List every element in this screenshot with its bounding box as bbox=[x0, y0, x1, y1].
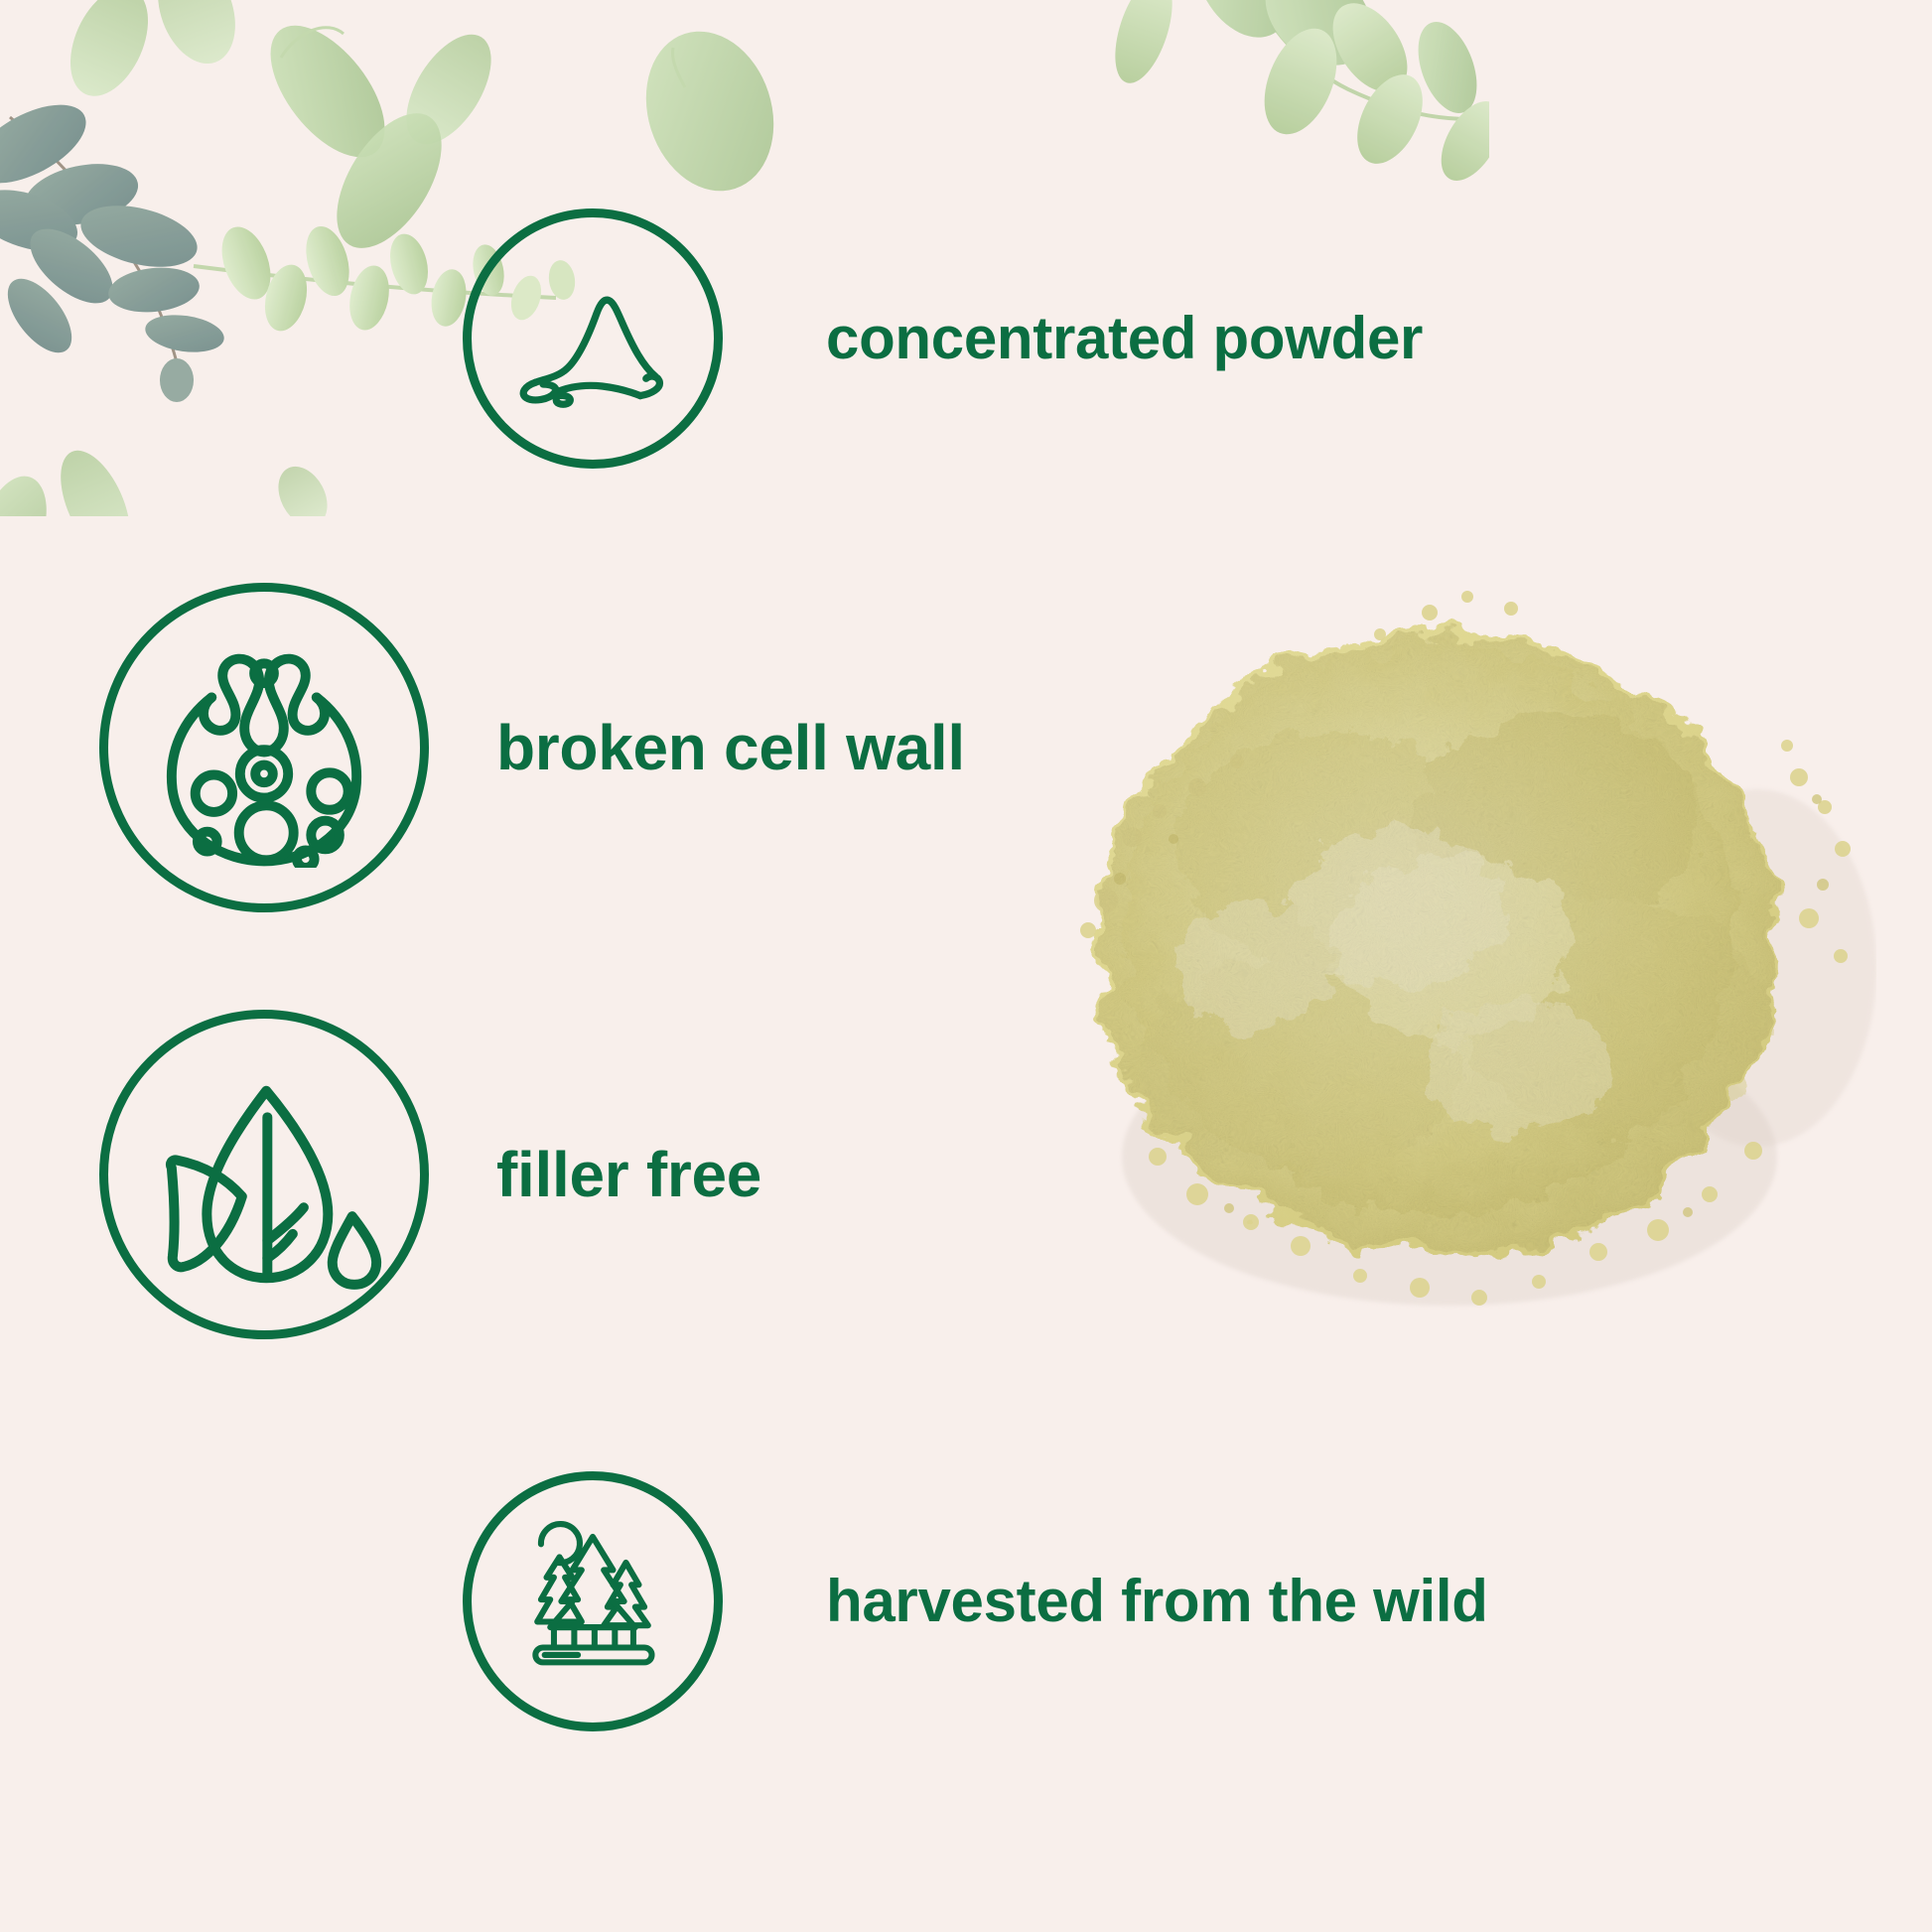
feature-label-broken-cell-wall: broken cell wall bbox=[496, 716, 965, 779]
feature-label-harvested-from-the-wild: harvested from the wild bbox=[826, 1572, 1488, 1631]
feature-filler-free: filler free bbox=[99, 1010, 761, 1339]
broken-cell-wall-icon bbox=[99, 583, 429, 912]
powder-pile-photo bbox=[1003, 551, 1876, 1335]
powder-mound-icon bbox=[463, 208, 723, 469]
infographic-canvas: concentrated powder bbox=[0, 0, 1932, 1932]
feature-label-filler-free: filler free bbox=[496, 1143, 761, 1206]
forest-trees-icon bbox=[463, 1471, 723, 1731]
leaves-icon bbox=[99, 1010, 429, 1339]
feature-label-concentrated-powder: concentrated powder bbox=[826, 309, 1423, 368]
feature-concentrated-powder: concentrated powder bbox=[463, 208, 1423, 469]
feature-harvested-from-the-wild: harvested from the wild bbox=[463, 1471, 1488, 1731]
feature-broken-cell-wall: broken cell wall bbox=[99, 583, 965, 912]
